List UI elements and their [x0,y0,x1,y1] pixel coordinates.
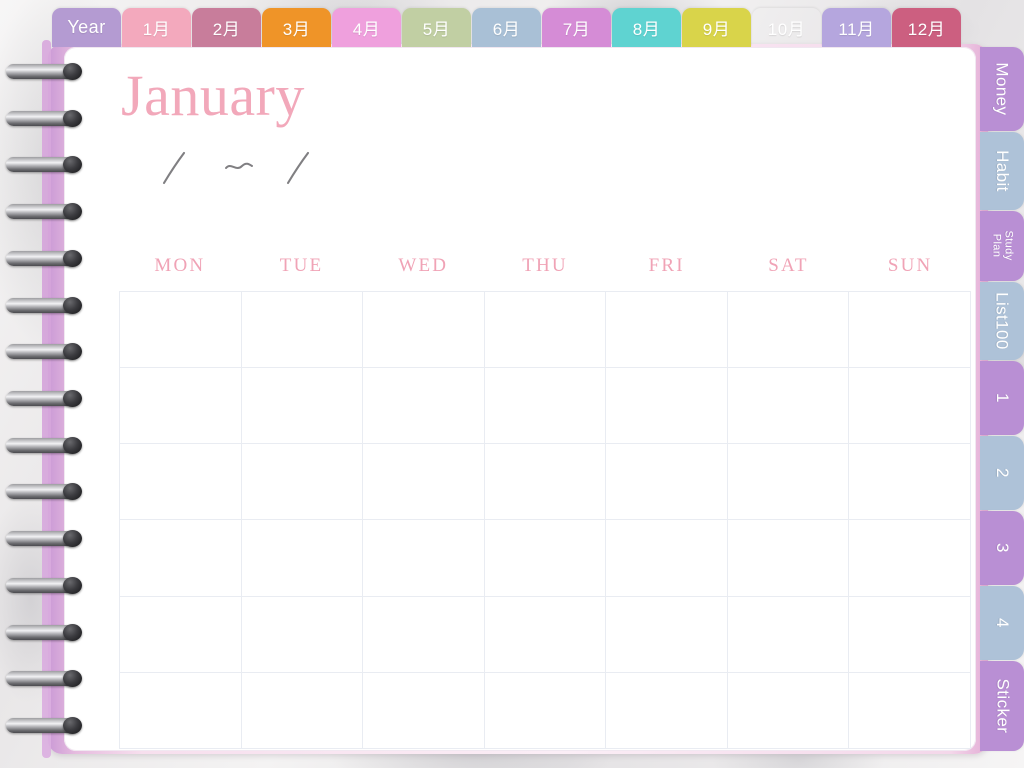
binder-ring [6,718,82,733]
section-tab-label: Habit [993,150,1011,192]
date-range-field[interactable] [154,147,414,191]
section-tab-3[interactable]: 3 [980,511,1024,585]
month-tab-11月[interactable]: 11月 [822,8,891,47]
calendar-day-cell[interactable] [242,444,364,520]
calendar-day-cell[interactable] [606,520,728,596]
month-tab-label: 10月 [768,15,805,40]
planner-app: Year1月2月3月4月5月6月7月8月9月10月11月12月 MoneyHab… [0,0,1024,768]
binder-ring-cap [63,530,82,547]
month-tab-4月[interactable]: 4月 [332,8,401,47]
calendar-day-cell[interactable] [606,444,728,520]
binder-ring-cap [63,577,82,594]
binder-ring [6,251,82,266]
calendar-day-cell[interactable] [242,520,364,596]
section-tab-2[interactable]: 2 [980,436,1024,510]
binder-ring-cap [63,203,82,220]
binder-ring [6,64,82,79]
month-tab-label: 3月 [283,15,310,40]
binder-ring-cap [63,250,82,267]
binder-ring [6,438,82,453]
calendar-day-cell[interactable] [728,292,850,368]
calendar-day-cell[interactable] [485,597,607,673]
calendar-day-cell[interactable] [606,673,728,749]
weekday-label-sat: SAT [728,255,850,277]
calendar-day-cell[interactable] [242,673,364,749]
calendar-day-cell[interactable] [728,673,850,749]
calendar-day-cell[interactable] [363,597,485,673]
calendar-day-cell[interactable] [485,444,607,520]
month-tab-label: 1月 [143,15,170,40]
calendar-day-cell[interactable] [242,292,364,368]
binder-ring [6,578,82,593]
section-tab-list100[interactable]: List100 [980,282,1024,360]
calendar-day-cell[interactable] [485,368,607,444]
calendar-day-cell[interactable] [485,673,607,749]
section-tab-label: Study Plan [990,231,1013,261]
calendar-day-cell[interactable] [242,368,364,444]
calendar-day-cell[interactable] [120,597,242,673]
binder-ring-cap [63,63,82,80]
section-tab-label: List100 [993,292,1011,350]
page-surface: January MONTUEWEDTHUFRISATSUN [64,47,976,751]
section-tab-money[interactable]: Money [980,47,1024,131]
section-tab-study-plan[interactable]: Study Plan [980,211,1024,281]
weekday-label-tue: TUE [241,255,363,277]
weekday-label-mon: MON [119,255,241,277]
section-tab-label: 2 [993,468,1011,478]
month-tab-year[interactable]: Year [52,8,121,47]
planner-page: January MONTUEWEDTHUFRISATSUN [48,44,988,754]
binder-ring-cap [63,624,82,641]
binder-ring [6,111,82,126]
calendar-day-cell[interactable] [606,292,728,368]
binder-ring [6,204,82,219]
calendar-day-cell[interactable] [849,444,971,520]
month-tab-5月[interactable]: 5月 [402,8,471,47]
weekday-label-wed: WED [362,255,484,277]
binder-ring-cap [63,343,82,360]
binder-ring [6,671,82,686]
section-tab-label: Money [993,62,1011,115]
month-tab-3月[interactable]: 3月 [262,8,331,47]
binder-ring-cap [63,110,82,127]
calendar-day-cell[interactable] [849,673,971,749]
month-tab-label: 4月 [353,15,380,40]
calendar-day-cell[interactable] [728,597,850,673]
calendar-day-cell[interactable] [120,292,242,368]
calendar-day-cell[interactable] [849,597,971,673]
month-tab-8月[interactable]: 8月 [612,8,681,47]
calendar-day-cell[interactable] [485,520,607,596]
binder-ring-cap [63,483,82,500]
binder-ring-cap [63,717,82,734]
weekday-label-fri: FRI [606,255,728,277]
binder-ring [6,157,82,172]
calendar-day-cell[interactable] [242,597,364,673]
calendar-day-cell[interactable] [120,444,242,520]
month-tab-7月[interactable]: 7月 [542,8,611,47]
binder-ring-cap [63,390,82,407]
calendar-day-cell[interactable] [849,292,971,368]
calendar-day-cell[interactable] [728,520,850,596]
calendar-day-cell[interactable] [728,444,850,520]
page-title: January [121,67,305,125]
month-tab-2月[interactable]: 2月 [192,8,261,47]
calendar-day-cell[interactable] [120,368,242,444]
calendar-day-cell[interactable] [728,368,850,444]
month-tab-label: 11月 [838,15,874,40]
calendar-day-cell[interactable] [120,673,242,749]
binder-ring [6,625,82,640]
section-tab-label: 1 [993,393,1011,403]
calendar-day-cell[interactable] [363,520,485,596]
month-tab-label: 8月 [633,15,660,40]
section-tab-habit[interactable]: Habit [980,132,1024,210]
section-tab-label: Sticker [993,679,1011,734]
calendar-day-cell[interactable] [849,520,971,596]
binder-ring [6,531,82,546]
binder-ring-cap [63,437,82,454]
month-tab-bar: Year1月2月3月4月5月6月7月8月9月10月11月12月 [52,8,962,47]
weekday-header-row: MONTUEWEDTHUFRISATSUN [119,255,971,277]
binder-ring [6,298,82,313]
binder-ring-cap [63,156,82,173]
calendar-day-cell[interactable] [363,368,485,444]
section-tab-1[interactable]: 1 [980,361,1024,435]
calendar-day-cell[interactable] [606,597,728,673]
binder-ring-cap [63,670,82,687]
section-tab-sticker[interactable]: Sticker [980,661,1024,751]
calendar-day-cell[interactable] [120,520,242,596]
month-tab-label: 12月 [908,15,945,40]
section-tab-bar: MoneyHabitStudy PlanList1001234Sticker [980,47,1024,752]
month-tab-label: 7月 [563,15,590,40]
binder-ring-cap [63,297,82,314]
section-tab-label: 4 [993,618,1011,628]
month-tab-12月[interactable]: 12月 [892,8,961,47]
month-tab-10月[interactable]: 10月 [752,8,821,47]
month-tab-1月[interactable]: 1月 [122,8,191,47]
handwritten-date-range-icon [154,147,414,191]
binder-ring [6,344,82,359]
calendar-day-cell[interactable] [849,368,971,444]
month-tab-6月[interactable]: 6月 [472,8,541,47]
calendar-day-cell[interactable] [606,368,728,444]
section-tab-4[interactable]: 4 [980,586,1024,660]
calendar-day-cell[interactable] [363,673,485,749]
month-tab-label: 6月 [493,15,520,40]
weekday-label-thu: THU [484,255,606,277]
month-tab-label: 5月 [423,15,450,40]
weekday-label-sun: SUN [849,255,971,277]
binder-ring [6,391,82,406]
month-tab-label: Year [67,17,105,38]
month-tab-9月[interactable]: 9月 [682,8,751,47]
month-tab-label: 2月 [213,15,240,40]
calendar-day-cell[interactable] [485,292,607,368]
calendar-grid [119,291,971,749]
month-tab-label: 9月 [703,15,730,40]
binder-ring [6,484,82,499]
spiral-binding [0,0,100,768]
calendar-day-cell[interactable] [363,444,485,520]
calendar-day-cell[interactable] [363,292,485,368]
section-tab-label: 3 [993,543,1011,553]
